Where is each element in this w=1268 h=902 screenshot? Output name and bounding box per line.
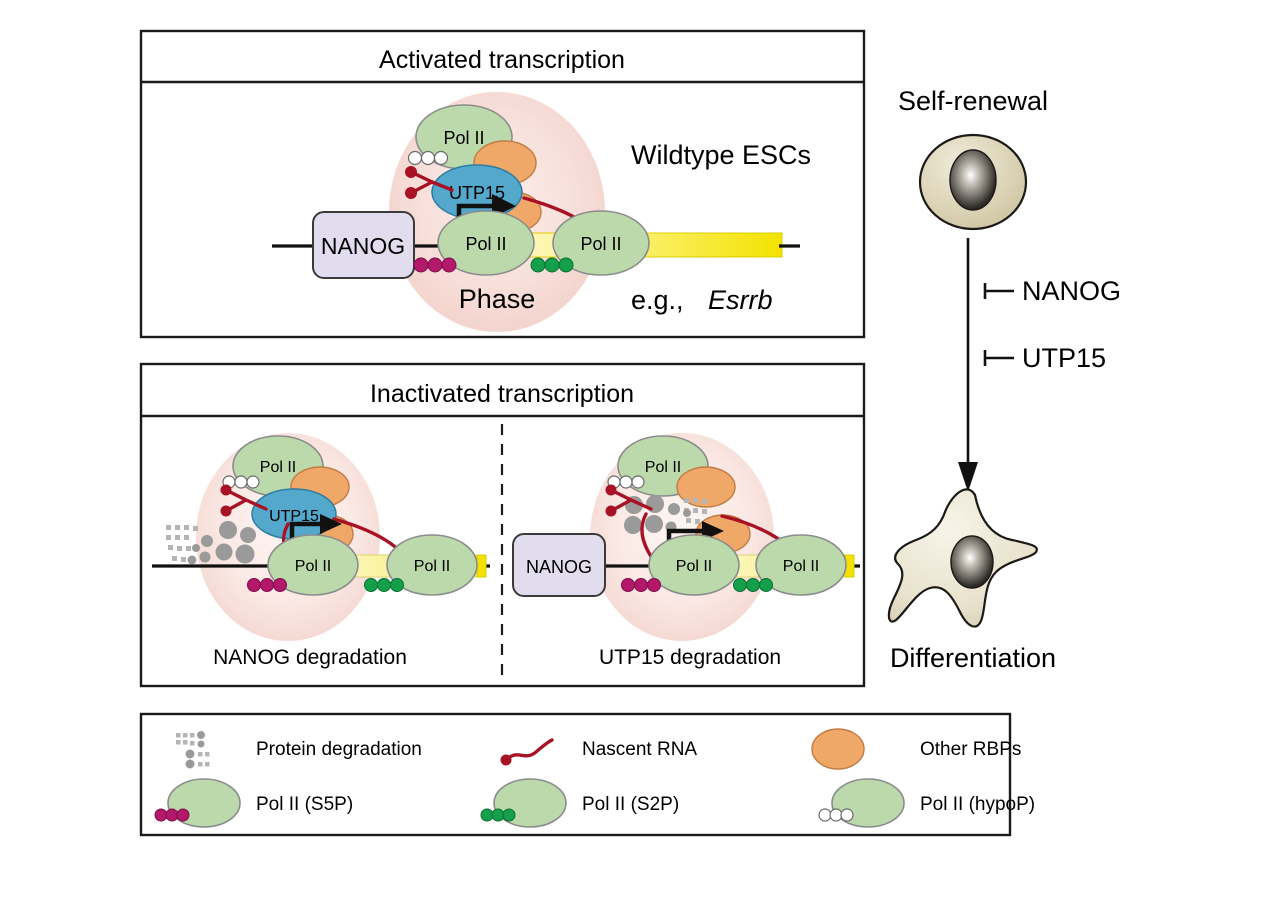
hypop-marks (409, 152, 448, 165)
polii-s5p-label: Pol II (465, 234, 506, 254)
gene-end-marker-left (477, 555, 486, 577)
fate-arrow (958, 238, 978, 492)
s5p-marks (414, 258, 456, 272)
example-gene-annotation: e.g., Esrrb (631, 285, 773, 315)
nanog-label: NANOG (321, 233, 405, 259)
polii-s5p-label-right: Pol II (676, 558, 712, 575)
stem-cell-icon (920, 135, 1026, 229)
polii-hypop-label: Pol II (443, 128, 484, 148)
protein-degradation-icon (176, 731, 210, 769)
polii-s5p-label-left: Pol II (295, 558, 331, 575)
nanog-label-right: NANOG (526, 557, 592, 577)
legend-item-other-rbps: Other RBPs (812, 729, 1021, 769)
panel-inactivated-title: Inactivated transcription (370, 380, 634, 408)
nascent-rna-icon (501, 740, 553, 766)
polii-s5p-icon (155, 779, 240, 827)
polii-s2p-label-left: Pol II (414, 558, 450, 575)
inhibitor-utp15-label: UTP15 (1022, 343, 1106, 373)
differentiation-label: Differentiation (890, 643, 1056, 673)
polii-s2p-label: Pol II (580, 234, 621, 254)
caption-utp15-degradation: UTP15 degradation (599, 646, 781, 669)
schematic-svg: Activated transcription NANOG Pol II UTP… (0, 0, 1268, 902)
s2p-marks-right (734, 579, 773, 592)
legend-label-other-rbps: Other RBPs (920, 739, 1021, 760)
s2p-marks-left (365, 579, 404, 592)
s5p-marks-right (622, 579, 661, 592)
panel-legend: Protein degradation Nascent RNA Other RB… (141, 714, 1035, 835)
polii-hypop-label-left: Pol II (260, 459, 296, 476)
legend-label-polii-s2p: Pol II (S2P) (582, 794, 679, 815)
legend-label-protein-degradation: Protein degradation (256, 739, 422, 760)
other-rbps-icon (812, 729, 864, 769)
subpanel-nanog-degradation: Pol II UTP15 Pol I (152, 433, 490, 669)
legend-item-nascent-rna: Nascent RNA (501, 739, 698, 766)
differentiated-cell-icon (889, 489, 1037, 626)
polii-hypop-icon (819, 779, 904, 827)
s2p-marks (531, 258, 573, 272)
panel-activated-transcription: Activated transcription NANOG Pol II UTP… (141, 31, 864, 337)
inhibitor-nanog-label: NANOG (1022, 276, 1121, 306)
polii-hypop-label-right: Pol II (645, 459, 681, 476)
legend-label-nascent-rna: Nascent RNA (582, 739, 697, 760)
panel-activated-title: Activated transcription (379, 46, 625, 74)
example-gene: Esrrb (708, 285, 773, 315)
phase-label: Phase (459, 284, 536, 314)
polii-s2p-icon (481, 779, 566, 827)
caption-nanog-degradation: NANOG degradation (213, 646, 407, 669)
legend-label-polii-s5p: Pol II (S5P) (256, 794, 353, 815)
inhibitor-utp15: UTP15 (985, 343, 1106, 373)
panel-cell-fate: Self-renewal NANOG UTP15 Differentiation (889, 86, 1121, 673)
wildtype-escs-label: Wildtype ESCs (631, 140, 811, 170)
inhibitor-nanog: NANOG (985, 276, 1121, 306)
example-prefix: e.g., (631, 285, 684, 315)
subpanel-utp15-degradation: NANOG Pol II (513, 433, 860, 669)
panel-inactivated-transcription: Inactivated transcription (141, 364, 864, 686)
legend-item-polii-hypop: Pol II (hypoP) (819, 779, 1035, 827)
s5p-marks-left (248, 579, 287, 592)
legend-item-polii-s2p: Pol II (S2P) (481, 779, 679, 827)
self-renewal-label: Self-renewal (898, 86, 1048, 116)
legend-item-polii-s5p: Pol II (S5P) (155, 779, 353, 827)
polii-s2p-label-right: Pol II (783, 558, 819, 575)
legend-label-polii-hypop: Pol II (hypoP) (920, 794, 1035, 815)
figure-canvas: Activated transcription NANOG Pol II UTP… (0, 0, 1268, 902)
legend-item-protein-degradation: Protein degradation (176, 731, 422, 769)
